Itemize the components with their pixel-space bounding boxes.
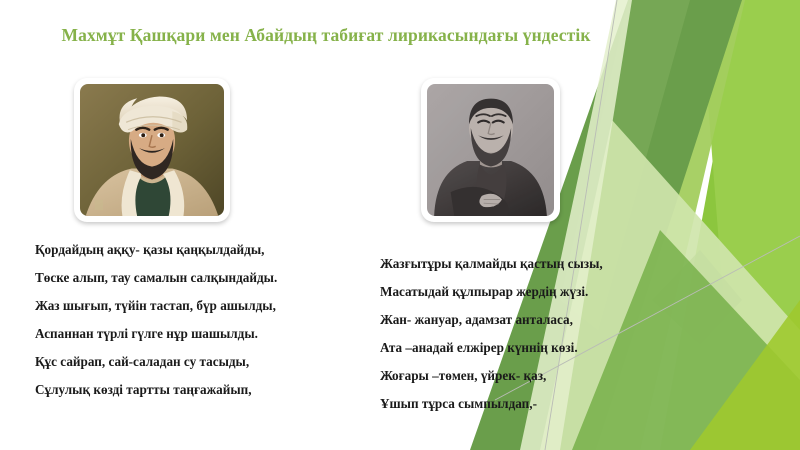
portrait-mahmud-kashgari[interactable] (74, 78, 230, 222)
facet-shape-mid-overlay (572, 230, 800, 450)
poem-left-line: Төске алып, тау самалын салқындайды. (35, 264, 277, 292)
poem-left-block: Қордайдың аққу- қазы қаңқылдайды, Төске … (35, 236, 277, 404)
poem-right-line: Жан- жануар, адамзат анталаса, (380, 306, 603, 334)
poem-left-line: Қордайдың аққу- қазы қаңқылдайды, (35, 236, 277, 264)
portrait-mahmud-kashgari-image (80, 84, 224, 216)
poem-left-line: Құс сайрап, сай-саладан су тасыды, (35, 348, 277, 376)
poem-left-line: Сұлулық көзді тартты таңғажайып, (35, 376, 277, 404)
slide-canvas: Махмұт Қашқари мен Абайдың табиғат лирик… (0, 0, 800, 450)
poem-left-line: Аспаннан түрлі гүлге нұр шашылды. (35, 320, 277, 348)
poem-right-line: Жоғары –төмен, үйрек- қаз, (380, 362, 603, 390)
poem-right-line: Жазғытұры қалмайды қастың сызы, (380, 250, 603, 278)
facet-shape-bright-right-2 (700, 0, 800, 450)
poem-left-line: Жаз шығып, түйін тастап, бүр ашылды, (35, 292, 277, 320)
poem-right-line: Масатыдай құлпырар жердің жүзі. (380, 278, 603, 306)
poem-right-block: Жазғытұры қалмайды қастың сызы, Масатыда… (380, 250, 603, 418)
slide-title: Махмұт Қашқари мен Абайдың табиғат лирик… (46, 24, 606, 48)
poem-right-line: Ұшып тұрса сымпылдап,- (380, 390, 603, 418)
facet-shape-bright-right (660, 0, 800, 450)
poem-right-line: Ата –анадай елжірер күннің көзі. (380, 334, 603, 362)
facet-shape-yellow-bottom (690, 300, 800, 450)
facet-shape-deep-shadow (652, 250, 742, 345)
portrait-abai-qunanbaiuly-image (427, 84, 554, 216)
portrait-abai-qunanbaiuly[interactable] (421, 78, 560, 222)
